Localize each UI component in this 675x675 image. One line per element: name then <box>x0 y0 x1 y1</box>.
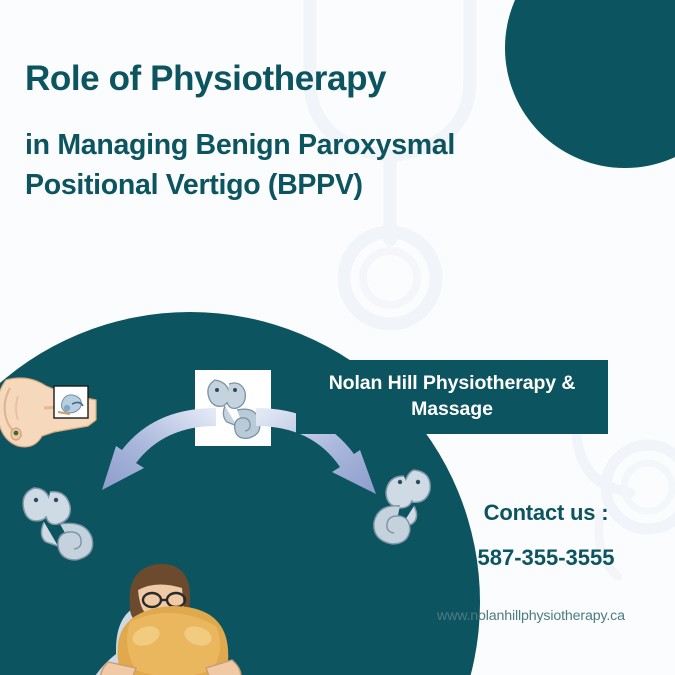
page-title: Role of Physiotherapy in Managing Benign… <box>25 60 585 205</box>
business-name-text: Nolan Hill Physiotherapy & Massage <box>306 371 598 422</box>
website-url[interactable]: www.nolanhillphysiotherapy.ca <box>437 608 625 624</box>
business-name-banner: Nolan Hill Physiotherapy & Massage <box>296 360 608 434</box>
headline-line-1: Role of Physiotherapy <box>25 60 585 99</box>
headline-line-2: in Managing Benign Paroxysmal <box>25 125 585 165</box>
contact-label: Contact us : <box>420 500 672 526</box>
poster-canvas: Role of Physiotherapy in Managing Benign… <box>0 0 675 675</box>
headline-line-3: Positional Vertigo (BPPV) <box>25 165 585 205</box>
phone-number[interactable]: 587-355-3555 <box>420 545 672 571</box>
epley-maneuver-illustration <box>0 544 460 675</box>
contact-block: Contact us : 587-355-3555 <box>420 500 672 571</box>
